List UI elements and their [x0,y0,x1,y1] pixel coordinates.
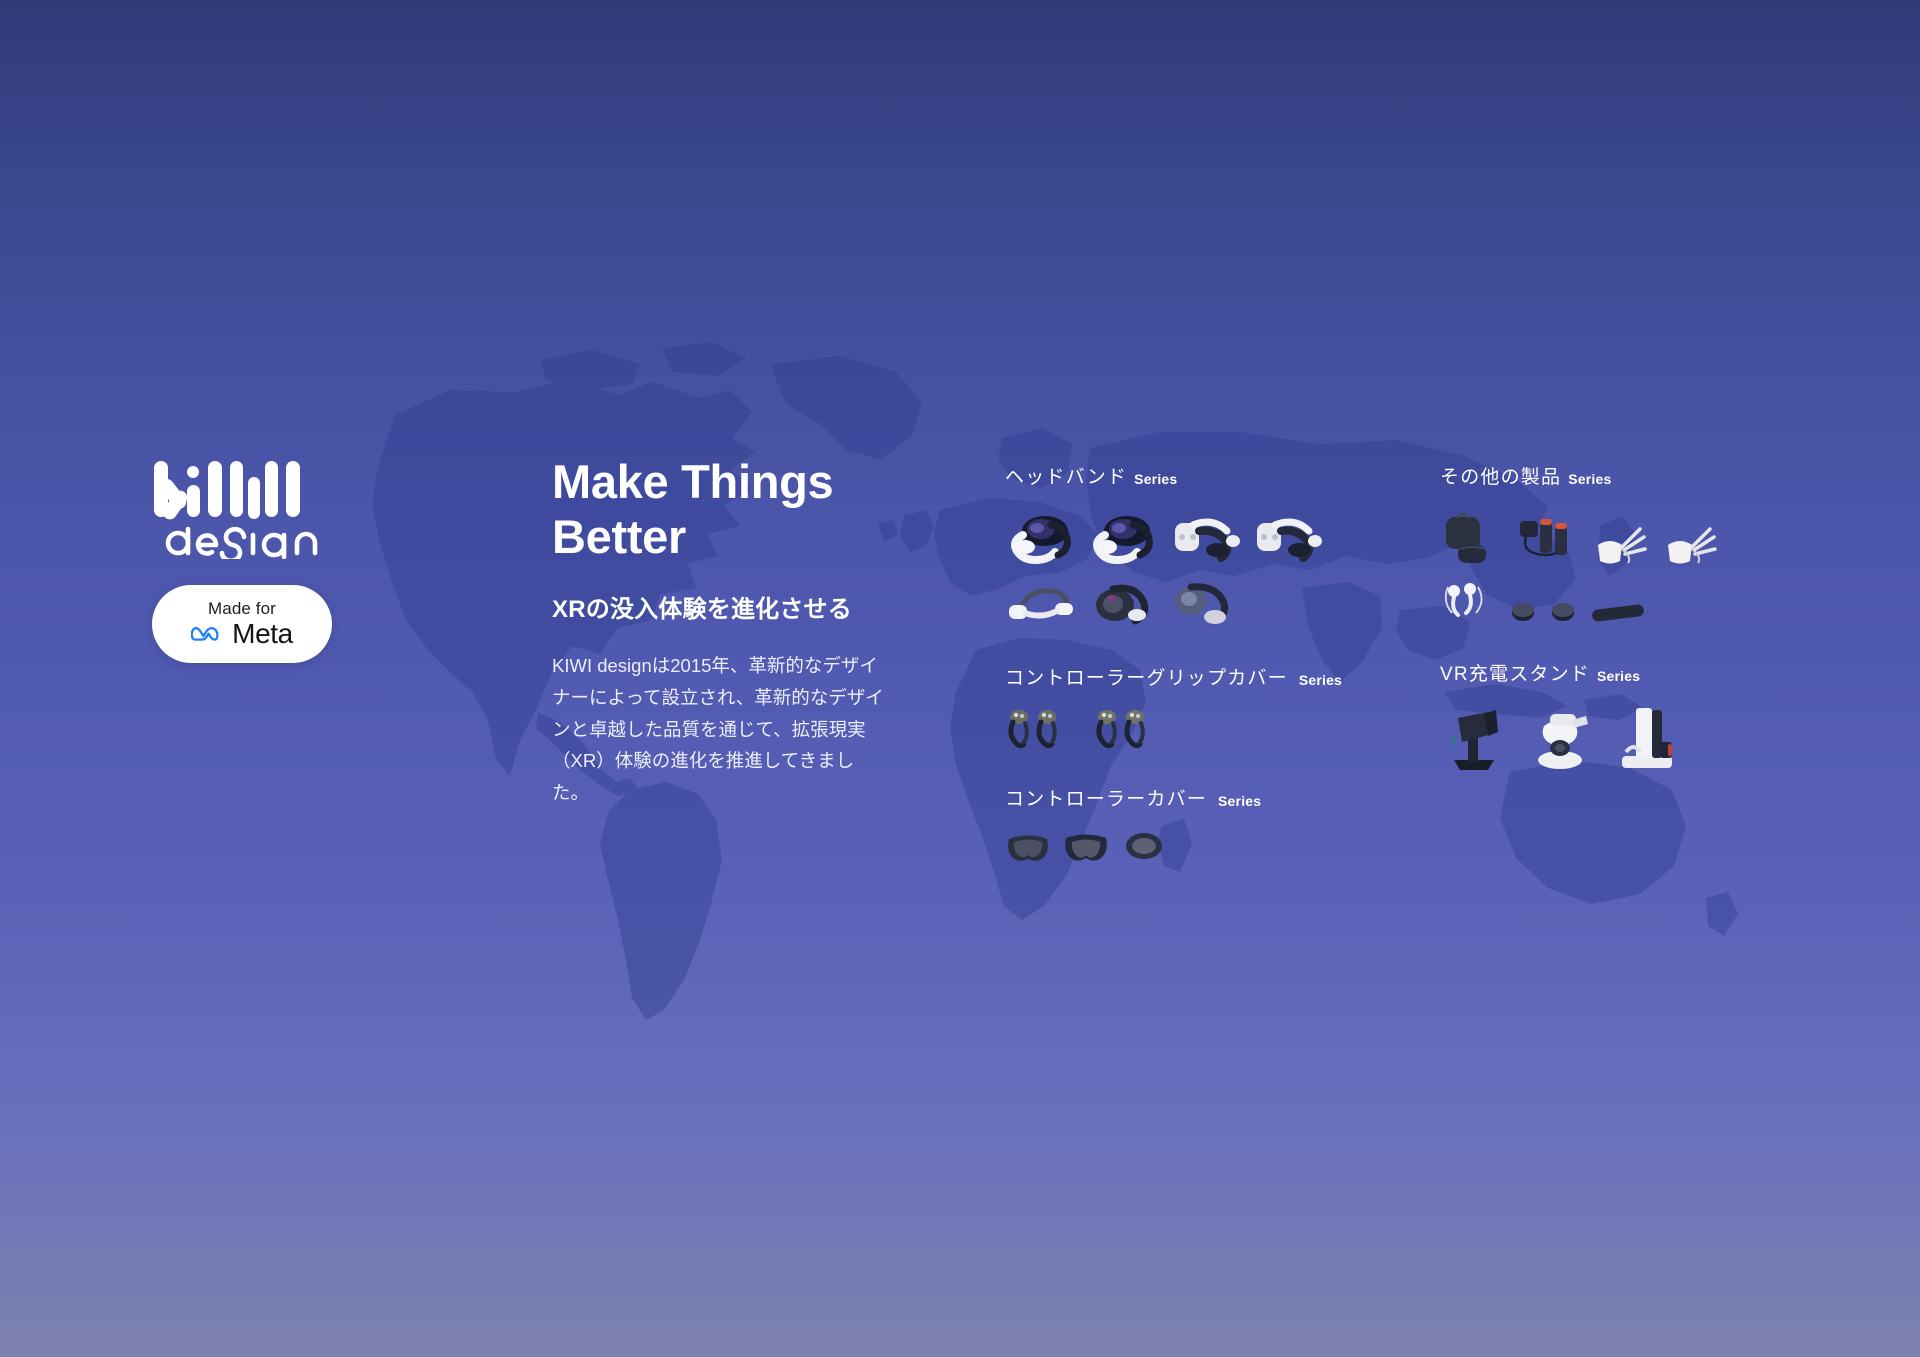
headline-line-2: Better [552,510,686,563]
charging-stand-tower[interactable] [1612,702,1680,774]
product-column-right: その他の製品 Series [1440,462,1740,774]
category-heading-other-products: その他の製品 Series [1440,462,1740,489]
face-cover-c[interactable] [1121,827,1167,865]
product-row [1005,706,1395,750]
category-heading-vr-charging-stand: VR充電スタンド Series [1440,659,1740,686]
product-group-other-products: その他の製品 Series [1440,462,1740,625]
category-title-ja: コントローラーグリップカバー [1005,663,1288,690]
headband-quest2-grey[interactable] [1165,577,1237,629]
headband-halo-white[interactable] [1005,577,1077,629]
power-bank-bar[interactable] [1590,599,1646,625]
product-row [1440,505,1740,567]
category-heading-controller-grip-cover: コントローラーグリップカバー Series [1005,663,1395,690]
subheadline: XRの没入体験を進化させる [552,589,892,624]
brand-column: Made for Meta [152,455,482,663]
category-title-en: Series [1597,668,1640,684]
headline-line-1: Make Things [552,455,833,508]
face-cover-a[interactable] [1005,827,1051,865]
product-row [1440,702,1740,774]
lens-cap-b[interactable] [1550,599,1576,625]
made-for-meta-badge[interactable]: Made for Meta [152,585,332,663]
product-row [1005,827,1395,865]
company-description: KIWI designは2015年、革新的なデザイナーによって設立され、革新的な… [552,650,890,809]
meta-infinity-icon [191,624,225,644]
headband-quest3-strap-a[interactable] [1169,505,1243,567]
meta-brand-label: Meta [232,620,293,648]
product-row [1005,577,1395,629]
category-title-en: Series [1299,672,1342,688]
category-title-en: Series [1568,471,1611,487]
made-for-label: Made for [208,600,276,617]
charging-stand-black[interactable] [1440,702,1508,774]
product-group-headband: ヘッドバンド Series [1005,462,1395,629]
category-title-en: Series [1134,471,1177,487]
category-title-ja: コントローラーカバー [1005,784,1207,811]
kiwi-design-logo [152,455,328,559]
page-title: Make ThingsBetter [552,455,892,565]
headband-quest3-white-a[interactable] [1005,505,1079,567]
lens-accessory-kit-a[interactable] [1592,519,1648,567]
headband-quest3-white-b[interactable] [1087,505,1161,567]
product-column-middle: ヘッドバンド Series [1005,462,1395,865]
grip-cover-pair-a[interactable] [1005,706,1071,750]
headband-quest3-strap-b[interactable] [1251,505,1325,567]
hero-banner: Made for Meta Make ThingsBetter XRの没入体験を… [0,0,1920,1357]
category-heading-headband: ヘッドバンド Series [1005,462,1395,489]
category-title-ja: VR充電スタンド [1440,659,1590,686]
charging-stand-white[interactable] [1526,702,1594,774]
category-heading-controller-cover: コントローラーカバー Series [1005,784,1395,811]
face-cover-b[interactable] [1063,827,1109,865]
category-title-ja: ヘッドバンド [1005,462,1127,489]
earbuds-set[interactable] [1440,577,1496,625]
category-title-en: Series [1218,793,1261,809]
product-row [1005,505,1395,567]
product-group-vr-charging-stand: VR充電スタンド Series [1440,659,1740,774]
headband-quest2-black[interactable] [1085,577,1157,629]
product-group-controller-grip-cover: コントローラーグリップカバー Series [1005,663,1395,750]
lens-cap-a[interactable] [1510,599,1536,625]
hero-text-block: Make ThingsBetter XRの没入体験を進化させる KIWI des… [552,455,892,809]
product-row [1440,577,1740,625]
category-title-ja: その他の製品 [1440,462,1561,489]
grip-cover-pair-b[interactable] [1093,706,1159,750]
battery-pack-set[interactable] [1516,505,1578,567]
product-group-controller-cover: コントローラーカバー Series [1005,784,1395,865]
lens-accessory-kit-b[interactable] [1662,519,1718,567]
carrying-case[interactable] [1440,505,1502,567]
